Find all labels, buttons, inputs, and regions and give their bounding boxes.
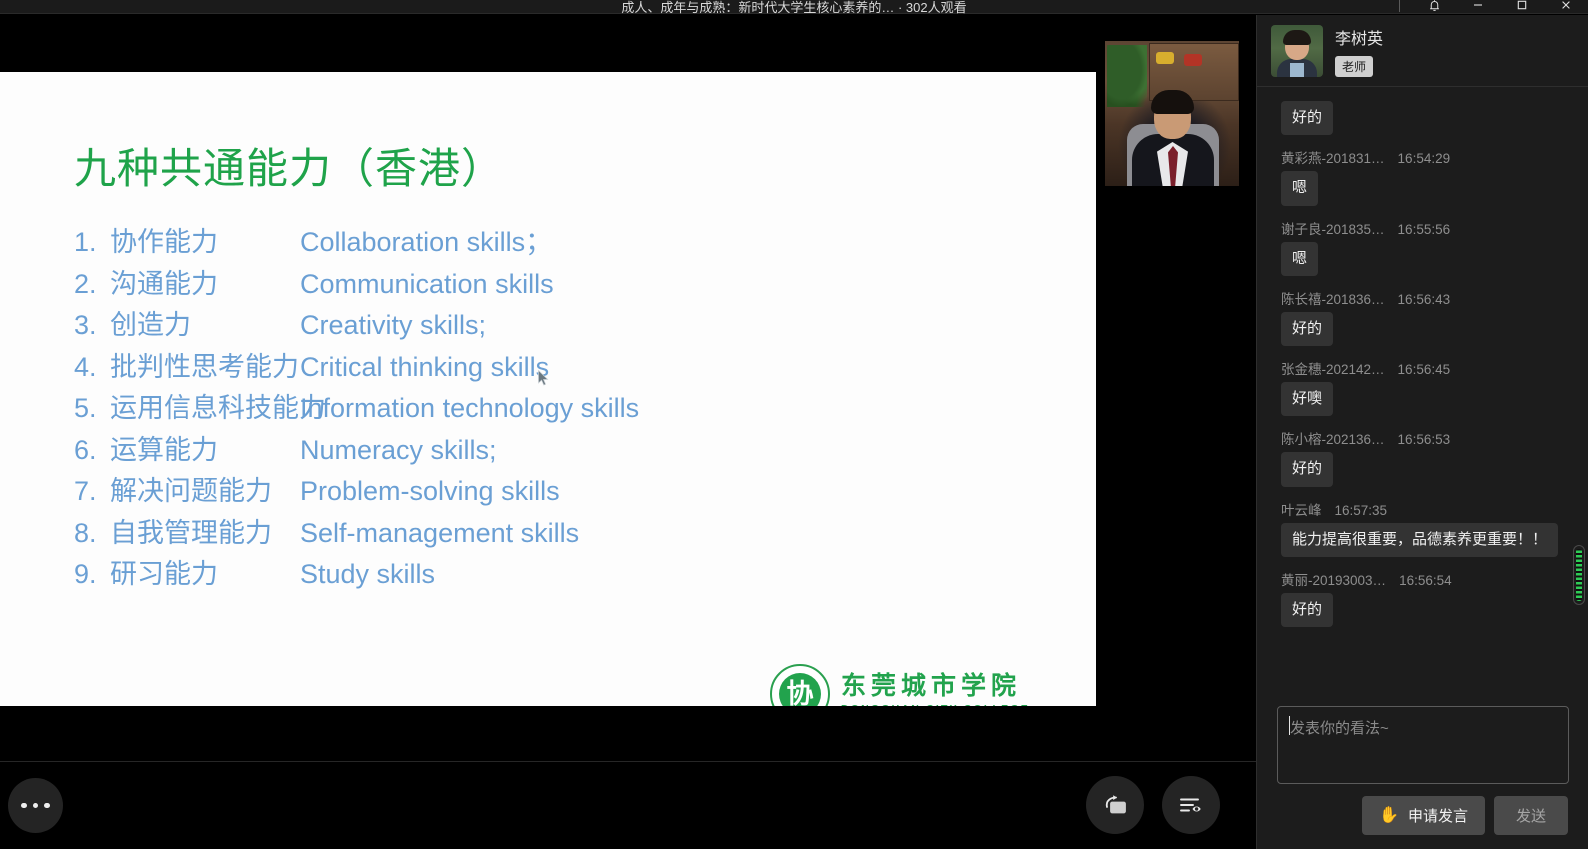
message-meta: 黄彩燕-201831… 16:54:29 (1281, 147, 1572, 167)
message-text: 好的 (1281, 312, 1333, 346)
item-number: 3. (74, 305, 110, 347)
item-label-cn: 运用信息科技能力 (110, 388, 300, 430)
chat-user-info: 李树英 老师 (1335, 25, 1383, 77)
message-meta: 谢子良-201835… 16:55:56 (1281, 218, 1572, 238)
bell-icon[interactable] (1412, 0, 1456, 15)
chat-message: 张金穗-202142… 16:56:45 好噢 (1273, 358, 1572, 416)
chat-panel: 李树英 老师 好的 黄彩燕-201831… 16:54:29 嗯 谢子良-201… (1256, 15, 1588, 849)
message-sender: 陈小榕-202136… (1281, 428, 1385, 448)
participants-view-button[interactable] (1162, 776, 1220, 834)
university-logo: 协 东莞城市学院 DONGGUAN CITY COLLEGE (770, 664, 1030, 706)
avatar-hair (1283, 30, 1311, 45)
item-label-en: Numeracy skills; (300, 430, 1054, 472)
chat-message-list[interactable]: 好的 黄彩燕-201831… 16:54:29 嗯 谢子良-201835… 16… (1257, 87, 1588, 696)
shared-slide: 九种共通能力（香港） 1. 协作能力 Collaboration skills；… (0, 72, 1096, 706)
chat-message: 好的 (1273, 97, 1572, 135)
message-sender: 黄丽-20193003… (1281, 569, 1386, 589)
item-label-cn: 自我管理能力 (110, 513, 300, 555)
item-number: 8. (74, 513, 110, 555)
hand-icon: ✋ (1379, 808, 1399, 824)
message-sender: 张金穗-202142… (1281, 358, 1385, 378)
raise-hand-button[interactable]: ✋ 申请发言 (1362, 796, 1485, 835)
item-number: 2. (74, 264, 110, 306)
item-label-en: Study skills (300, 554, 1054, 596)
slide-list-item: 6. 运算能力 Numeracy skills; (74, 430, 1054, 472)
close-icon[interactable] (1544, 0, 1588, 15)
compose-actions: ✋ 申请发言 发送 (1277, 796, 1568, 835)
share-screen-button[interactable] (1086, 776, 1144, 834)
chat-message: 陈长禧-201836… 16:56:43 好的 (1273, 288, 1572, 346)
item-label-en: Collaboration skills； (300, 222, 1054, 264)
item-number: 1. (74, 222, 110, 264)
slide-list-item: 7. 解决问题能力 Problem-solving skills (74, 471, 1054, 513)
minimize-icon[interactable] (1456, 0, 1500, 15)
speaker-video-thumbnail[interactable] (1105, 41, 1239, 186)
avatar-shirt (1290, 63, 1304, 77)
chat-message: 黄彩燕-201831… 16:54:29 嗯 (1273, 147, 1572, 205)
message-meta: 黄丽-20193003… 16:56:54 (1281, 569, 1572, 589)
message-text: 好的 (1281, 101, 1333, 135)
message-meta: 张金穗-202142… 16:56:45 (1281, 358, 1572, 378)
item-number: 6. (74, 430, 110, 472)
chat-header: 李树英 老师 (1257, 15, 1588, 87)
message-sender: 叶云峰 (1281, 499, 1322, 519)
more-icon (21, 803, 50, 809)
message-time: 16:56:45 (1398, 362, 1451, 377)
item-number: 4. (74, 347, 110, 389)
slide-list-item: 1. 协作能力 Collaboration skills； (74, 222, 1054, 264)
message-time: 16:56:54 (1399, 573, 1452, 588)
message-time: 16:54:29 (1398, 151, 1451, 166)
message-sender: 谢子良-201835… (1281, 218, 1385, 238)
slide-list-item: 5. 运用信息科技能力 Information technology skill… (74, 388, 1054, 430)
message-text: 嗯 (1281, 242, 1318, 276)
send-button[interactable]: 发送 (1494, 796, 1568, 835)
item-number: 7. (74, 471, 110, 513)
item-label-en: Critical thinking skills (300, 347, 1054, 389)
slide-list-item: 9. 研习能力 Study skills (74, 554, 1054, 596)
message-text: 好噢 (1281, 382, 1333, 416)
item-label-en: Information technology skills (300, 388, 1054, 430)
share-screen-icon (1101, 793, 1129, 817)
item-label-cn: 解决问题能力 (110, 471, 300, 513)
item-label-cn: 运算能力 (110, 430, 300, 472)
slide-list-item: 8. 自我管理能力 Self-management skills (74, 513, 1054, 555)
slide-title: 九种共通能力（香港） (74, 135, 504, 196)
message-time: 16:57:35 (1335, 503, 1388, 518)
title-bar: 成人、成年与成熟：新时代大学生核心素养的… · 302人观看 (0, 0, 1588, 14)
item-label-en: Communication skills (300, 264, 1054, 306)
chat-compose-area: 发表你的看法~ ✋ 申请发言 发送 (1257, 696, 1588, 849)
message-input[interactable]: 发表你的看法~ (1277, 706, 1569, 784)
chat-message: 黄丽-20193003… 16:56:54 好的 (1273, 569, 1572, 627)
item-label-en: Self-management skills (300, 513, 1054, 555)
meeting-toolbar (0, 761, 1256, 849)
message-sender: 黄彩燕-201831… (1281, 147, 1385, 167)
message-text: 好的 (1281, 593, 1333, 627)
message-meta: 陈长禧-201836… 16:56:43 (1281, 288, 1572, 308)
message-text: 好的 (1281, 452, 1333, 486)
window-title: 成人、成年与成熟：新时代大学生核心素养的… · 302人观看 (0, 0, 1588, 16)
raise-hand-label: 申请发言 (1408, 805, 1468, 826)
message-meta: 陈小榕-202136… 16:56:53 (1281, 428, 1572, 448)
logo-seal-icon: 协 (770, 664, 830, 706)
item-label-en: Problem-solving skills (300, 471, 1054, 513)
item-label-cn: 沟通能力 (110, 264, 300, 306)
meeting-window: 成人、成年与成熟：新时代大学生核心素养的… · 302人观看 九种共通能力（香港… (0, 0, 1588, 849)
plant-decor (1107, 45, 1147, 107)
list-eye-icon (1177, 794, 1205, 816)
role-badge: 老师 (1335, 56, 1373, 77)
window-controls (1395, 0, 1588, 15)
message-sender: 陈长禧-201836… (1281, 288, 1385, 308)
message-text: 嗯 (1281, 171, 1318, 205)
logo-name-en: DONGGUAN CITY COLLEGE (841, 703, 1030, 706)
item-label-cn: 批判性思考能力 (110, 347, 300, 389)
text-caret (1289, 716, 1290, 735)
item-label-cn: 研习能力 (110, 554, 300, 596)
message-text: 能力提高很重要，品德素养更重要！！ (1281, 523, 1558, 557)
chat-scrollbar[interactable] (1573, 545, 1585, 605)
message-meta: 叶云峰 16:57:35 (1281, 499, 1572, 519)
more-options-button[interactable] (8, 778, 63, 833)
logo-text: 东莞城市学院 DONGGUAN CITY COLLEGE (841, 672, 1030, 706)
logo-glyph: 协 (787, 681, 814, 706)
chat-message: 叶云峰 16:57:35 能力提高很重要，品德素养更重要！！ (1273, 499, 1572, 557)
item-label-cn: 协作能力 (110, 222, 300, 264)
slide-list-item: 2. 沟通能力 Communication skills (74, 264, 1054, 306)
chat-message: 陈小榕-202136… 16:56:53 好的 (1273, 428, 1572, 486)
item-number: 5. (74, 388, 110, 430)
chat-user-name: 李树英 (1335, 25, 1383, 49)
chat-message: 谢子良-201835… 16:55:56 嗯 (1273, 218, 1572, 276)
presentation-stage: 九种共通能力（香港） 1. 协作能力 Collaboration skills；… (0, 15, 1240, 761)
person-hair (1151, 90, 1194, 114)
message-input-placeholder: 发表你的看法~ (1290, 720, 1389, 737)
avatar[interactable] (1271, 25, 1323, 77)
message-time: 16:56:53 (1398, 432, 1451, 447)
item-label-cn: 创造力 (110, 305, 300, 347)
slide-list-item: 4. 批判性思考能力 Critical thinking skills (74, 347, 1054, 389)
message-time: 16:55:56 (1398, 222, 1451, 237)
slide-list-item: 3. 创造力 Creativity skills; (74, 305, 1054, 347)
item-label-en: Creativity skills; (300, 305, 1054, 347)
maximize-icon[interactable] (1500, 0, 1544, 15)
item-number: 9. (74, 554, 110, 596)
logo-name-cn: 东莞城市学院 (841, 672, 1030, 701)
control-divider (1399, 0, 1400, 12)
slide-ability-list: 1. 协作能力 Collaboration skills； 2. 沟通能力 Co… (74, 222, 1054, 596)
message-time: 16:56:43 (1398, 292, 1451, 307)
